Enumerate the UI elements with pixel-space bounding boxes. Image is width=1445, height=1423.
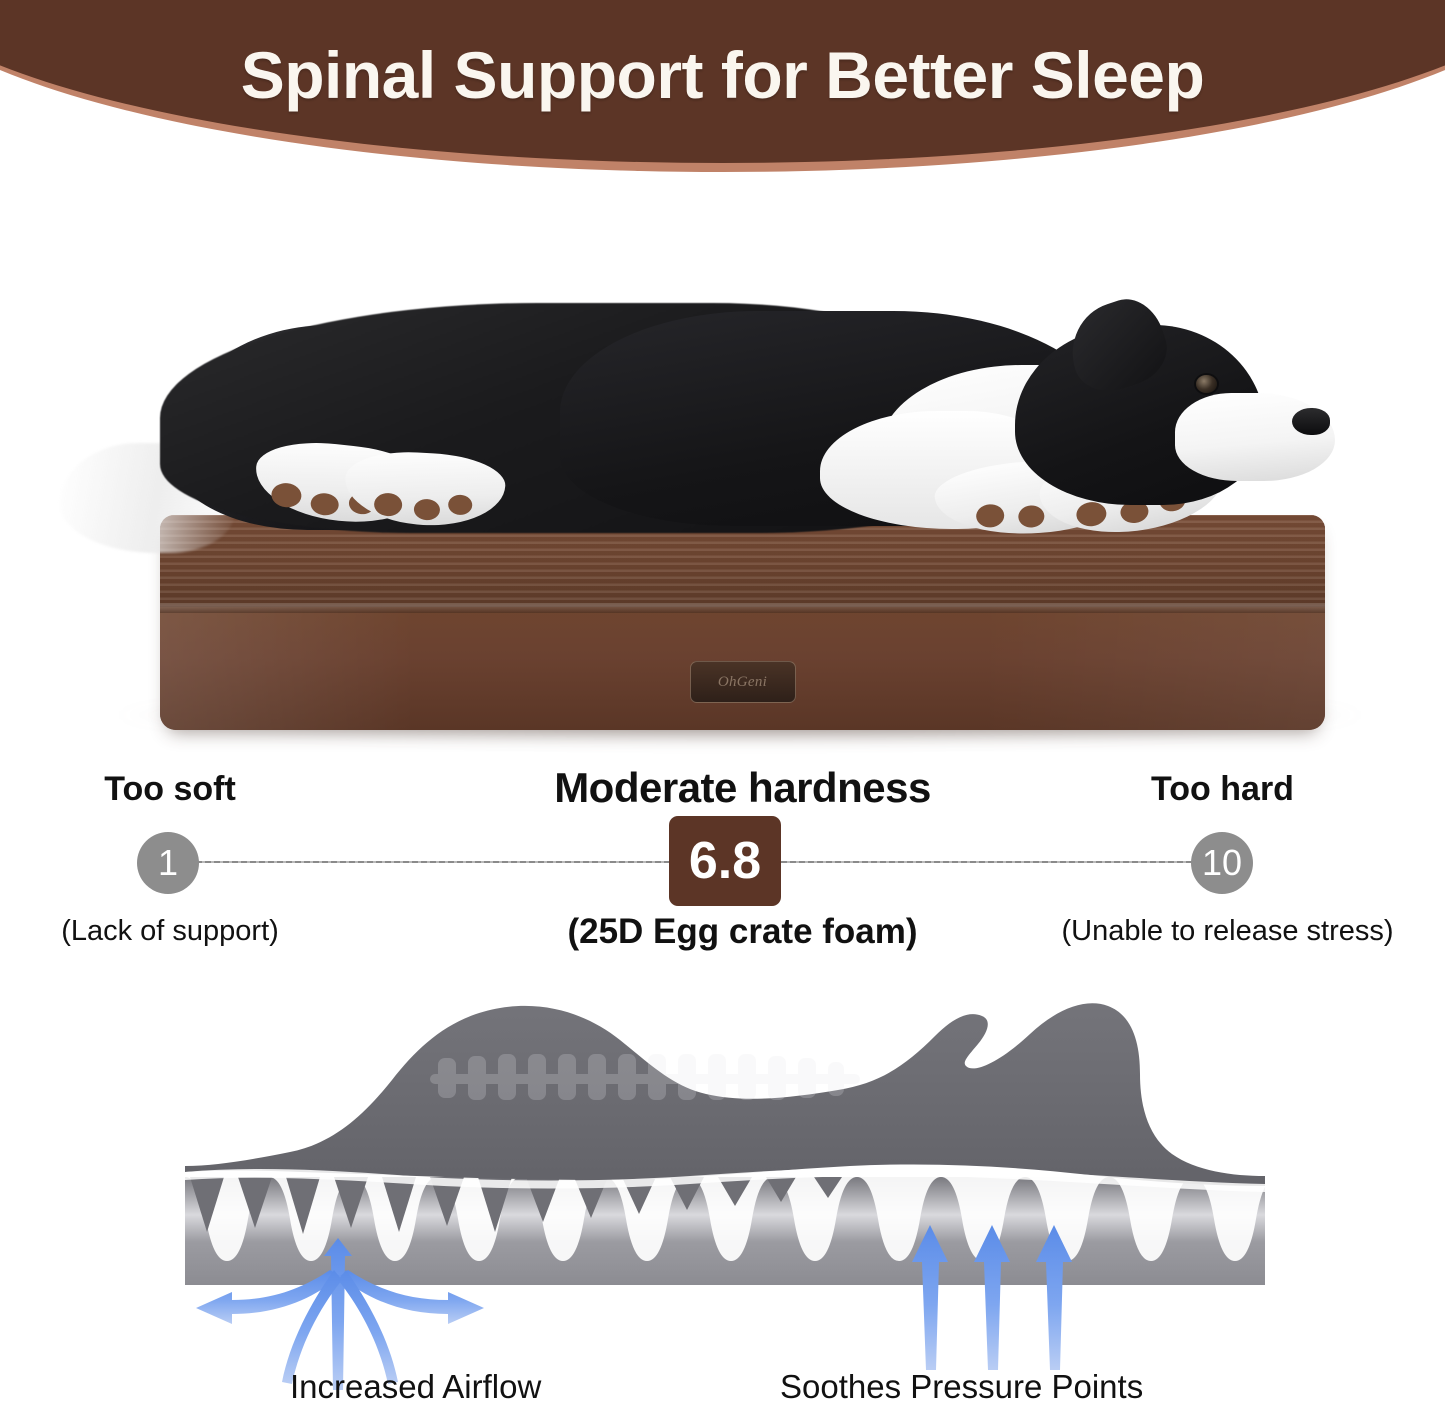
product-photo: OhGeni [0, 215, 1445, 760]
scale-label-too-soft: Too soft [70, 770, 270, 809]
foam-cross-section-diagram [0, 970, 1445, 1418]
page-title: Spinal Support for Better Sleep [0, 0, 1445, 150]
foam-slab [185, 1177, 1277, 1285]
scale-label-moderate: Moderate hardness [470, 764, 1015, 812]
caption-soothes-pressure: Soothes Pressure Points [780, 1368, 1143, 1406]
dog-eye [1196, 375, 1217, 393]
diagram-svg [0, 970, 1445, 1418]
scale-label-too-hard: Too hard [1120, 770, 1325, 809]
dog-nose [1292, 408, 1330, 435]
dog-silhouette [185, 1003, 1265, 1192]
scale-node-max: 10 [1191, 832, 1253, 894]
scale-node-min: 1 [137, 832, 199, 894]
scale-sub-too-soft: (Lack of support) [10, 915, 330, 948]
scale-sub-moderate: (25D Egg crate foam) [450, 912, 1035, 952]
caption-increased-airflow: Increased Airflow [290, 1368, 541, 1406]
pressure-point-arrows [912, 1225, 1072, 1370]
hardness-value-badge: 6.8 [669, 816, 781, 906]
scale-sub-too-hard: (Unable to release stress) [1015, 915, 1440, 948]
dog-muzzle [1175, 393, 1335, 481]
dog-photo-illustration [0, 215, 1445, 760]
